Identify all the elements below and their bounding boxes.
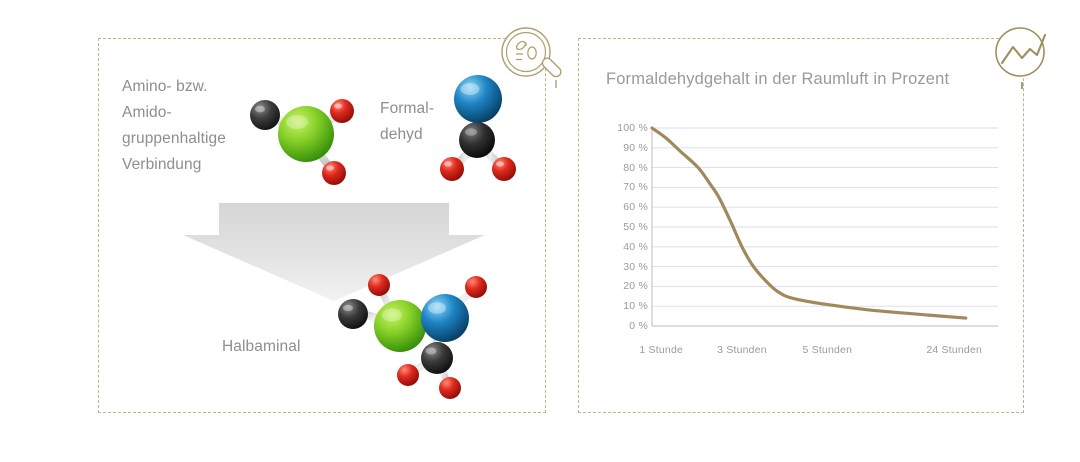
product-label: Halbaminal <box>222 338 301 356</box>
trend-chart-circle-icon <box>986 20 1058 92</box>
line-chart: 0 %10 %20 %30 %40 %50 %60 %70 %80 %90 %1… <box>600 118 1012 378</box>
molecule-amino-amido-compound <box>238 82 368 194</box>
molecule-halbaminal <box>322 272 504 406</box>
chart-title: Formaldehydgehalt in der Raumluft in Pro… <box>606 70 949 89</box>
magnifier-molecules-icon <box>496 22 568 94</box>
chart-plot-area <box>600 118 1012 378</box>
